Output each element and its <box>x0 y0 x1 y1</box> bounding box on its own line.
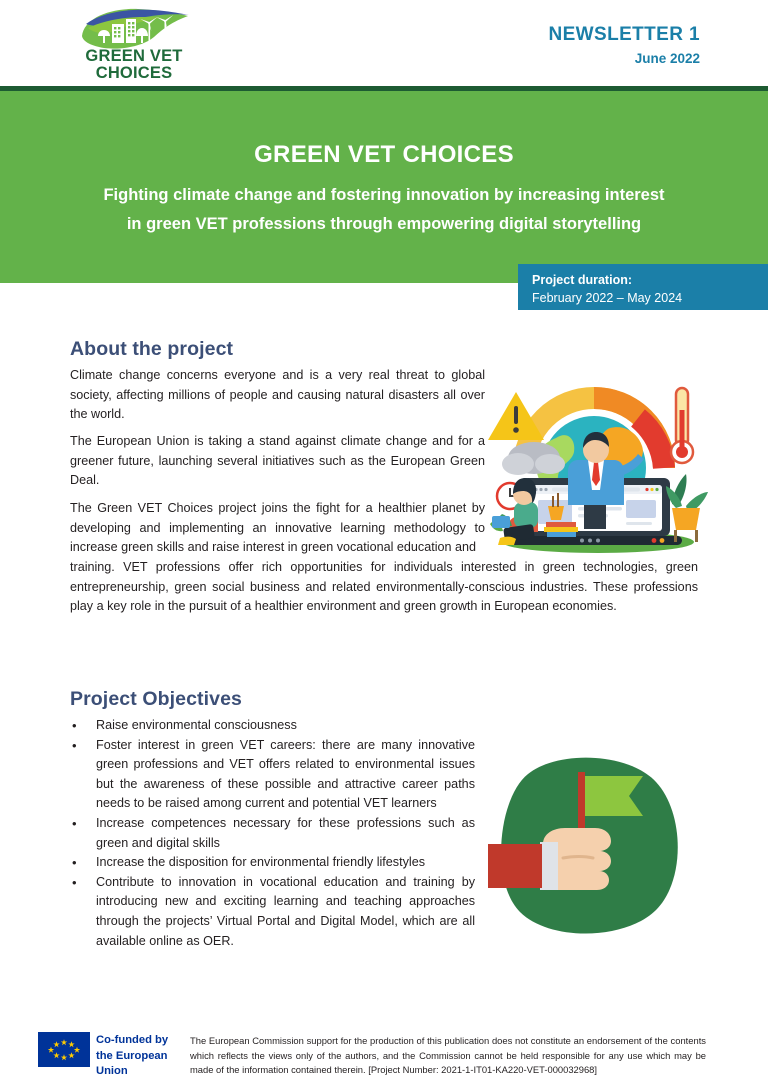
logo-text-line2: CHOICES <box>68 65 200 82</box>
logo-text-line1: GREEN VET <box>68 48 200 65</box>
banner-title: GREEN VET CHOICES <box>0 141 768 169</box>
objectives-list: • Raise environmental consciousness • Fo… <box>70 716 475 951</box>
logo-text: GREEN VET CHOICES <box>68 48 200 82</box>
project-logo: GREEN VET CHOICES <box>68 6 200 84</box>
bullet-icon: • <box>72 853 77 873</box>
eu-caption-line1: Co-funded by <box>96 1033 183 1049</box>
eu-stars-icon <box>38 1032 90 1067</box>
eu-cofunding-logo: Co-funded by the European Union <box>38 1032 183 1070</box>
project-duration-label: Project duration: <box>532 272 768 289</box>
newsletter-page: GREEN VET CHOICES NEWSLETTER 1 June 2022… <box>0 0 768 1086</box>
project-duration-badge: Project duration: February 2022 – May 20… <box>518 264 768 310</box>
list-item-text: Increase competences necessary for these… <box>96 816 475 850</box>
about-paragraph-2: The European Union is taking a stand aga… <box>70 432 485 491</box>
objectives-section-heading: Project Objectives <box>70 688 242 711</box>
european-union-flag-icon <box>38 1032 90 1067</box>
bullet-icon: • <box>72 736 77 756</box>
eu-cofunding-caption: Co-funded by the European Union <box>96 1033 183 1080</box>
bullet-icon: • <box>72 814 77 834</box>
about-paragraph-3-part1: The Green VET Choices project joins the … <box>70 499 485 558</box>
newsletter-title: NEWSLETTER 1 <box>548 24 700 46</box>
list-item: • Contribute to innovation in vocational… <box>70 873 475 951</box>
about-section-heading: About the project <box>70 338 233 361</box>
newsletter-date: June 2022 <box>548 49 700 68</box>
banner-subtitle: Fighting climate change and fostering in… <box>64 181 704 239</box>
list-item: • Raise environmental consciousness <box>70 716 475 736</box>
bullet-icon: • <box>72 873 77 893</box>
climate-elearning-illustration <box>486 356 708 554</box>
list-item-text: Increase the disposition for environment… <box>96 855 425 869</box>
eu-caption-line2: the European Union <box>96 1049 183 1080</box>
green-vet-choices-leaf-icon <box>76 6 192 52</box>
project-duration-value: February 2022 – May 2024 <box>532 289 768 307</box>
title-banner: GREEN VET CHOICES Fighting climate chang… <box>0 91 768 283</box>
about-paragraph-1: Climate change concerns everyone and is … <box>70 366 485 425</box>
list-item: • Increase competences necessary for the… <box>70 814 475 853</box>
list-item: • Foster interest in green VET careers: … <box>70 736 475 814</box>
banner-subtitle-line2: in green VET professions through empower… <box>64 210 704 239</box>
list-item: • Increase the disposition for environme… <box>70 853 475 873</box>
list-item-text: Contribute to innovation in vocational e… <box>96 875 475 948</box>
page-footer: Co-funded by the European Union The Euro… <box>0 1014 768 1086</box>
list-item-text: Raise environmental consciousness <box>96 718 297 732</box>
hand-holding-green-flag-illustration <box>488 748 698 958</box>
banner-subtitle-line1: Fighting climate change and fostering in… <box>64 181 704 210</box>
page-header: GREEN VET CHOICES NEWSLETTER 1 June 2022 <box>0 0 768 86</box>
about-paragraph-3-part2: training. VET professions offer rich opp… <box>70 558 698 617</box>
funding-disclaimer: The European Commission support for the … <box>190 1034 706 1078</box>
bullet-icon: • <box>72 716 77 736</box>
list-item-text: Foster interest in green VET careers: th… <box>96 738 475 811</box>
newsletter-meta: NEWSLETTER 1 June 2022 <box>548 24 700 68</box>
